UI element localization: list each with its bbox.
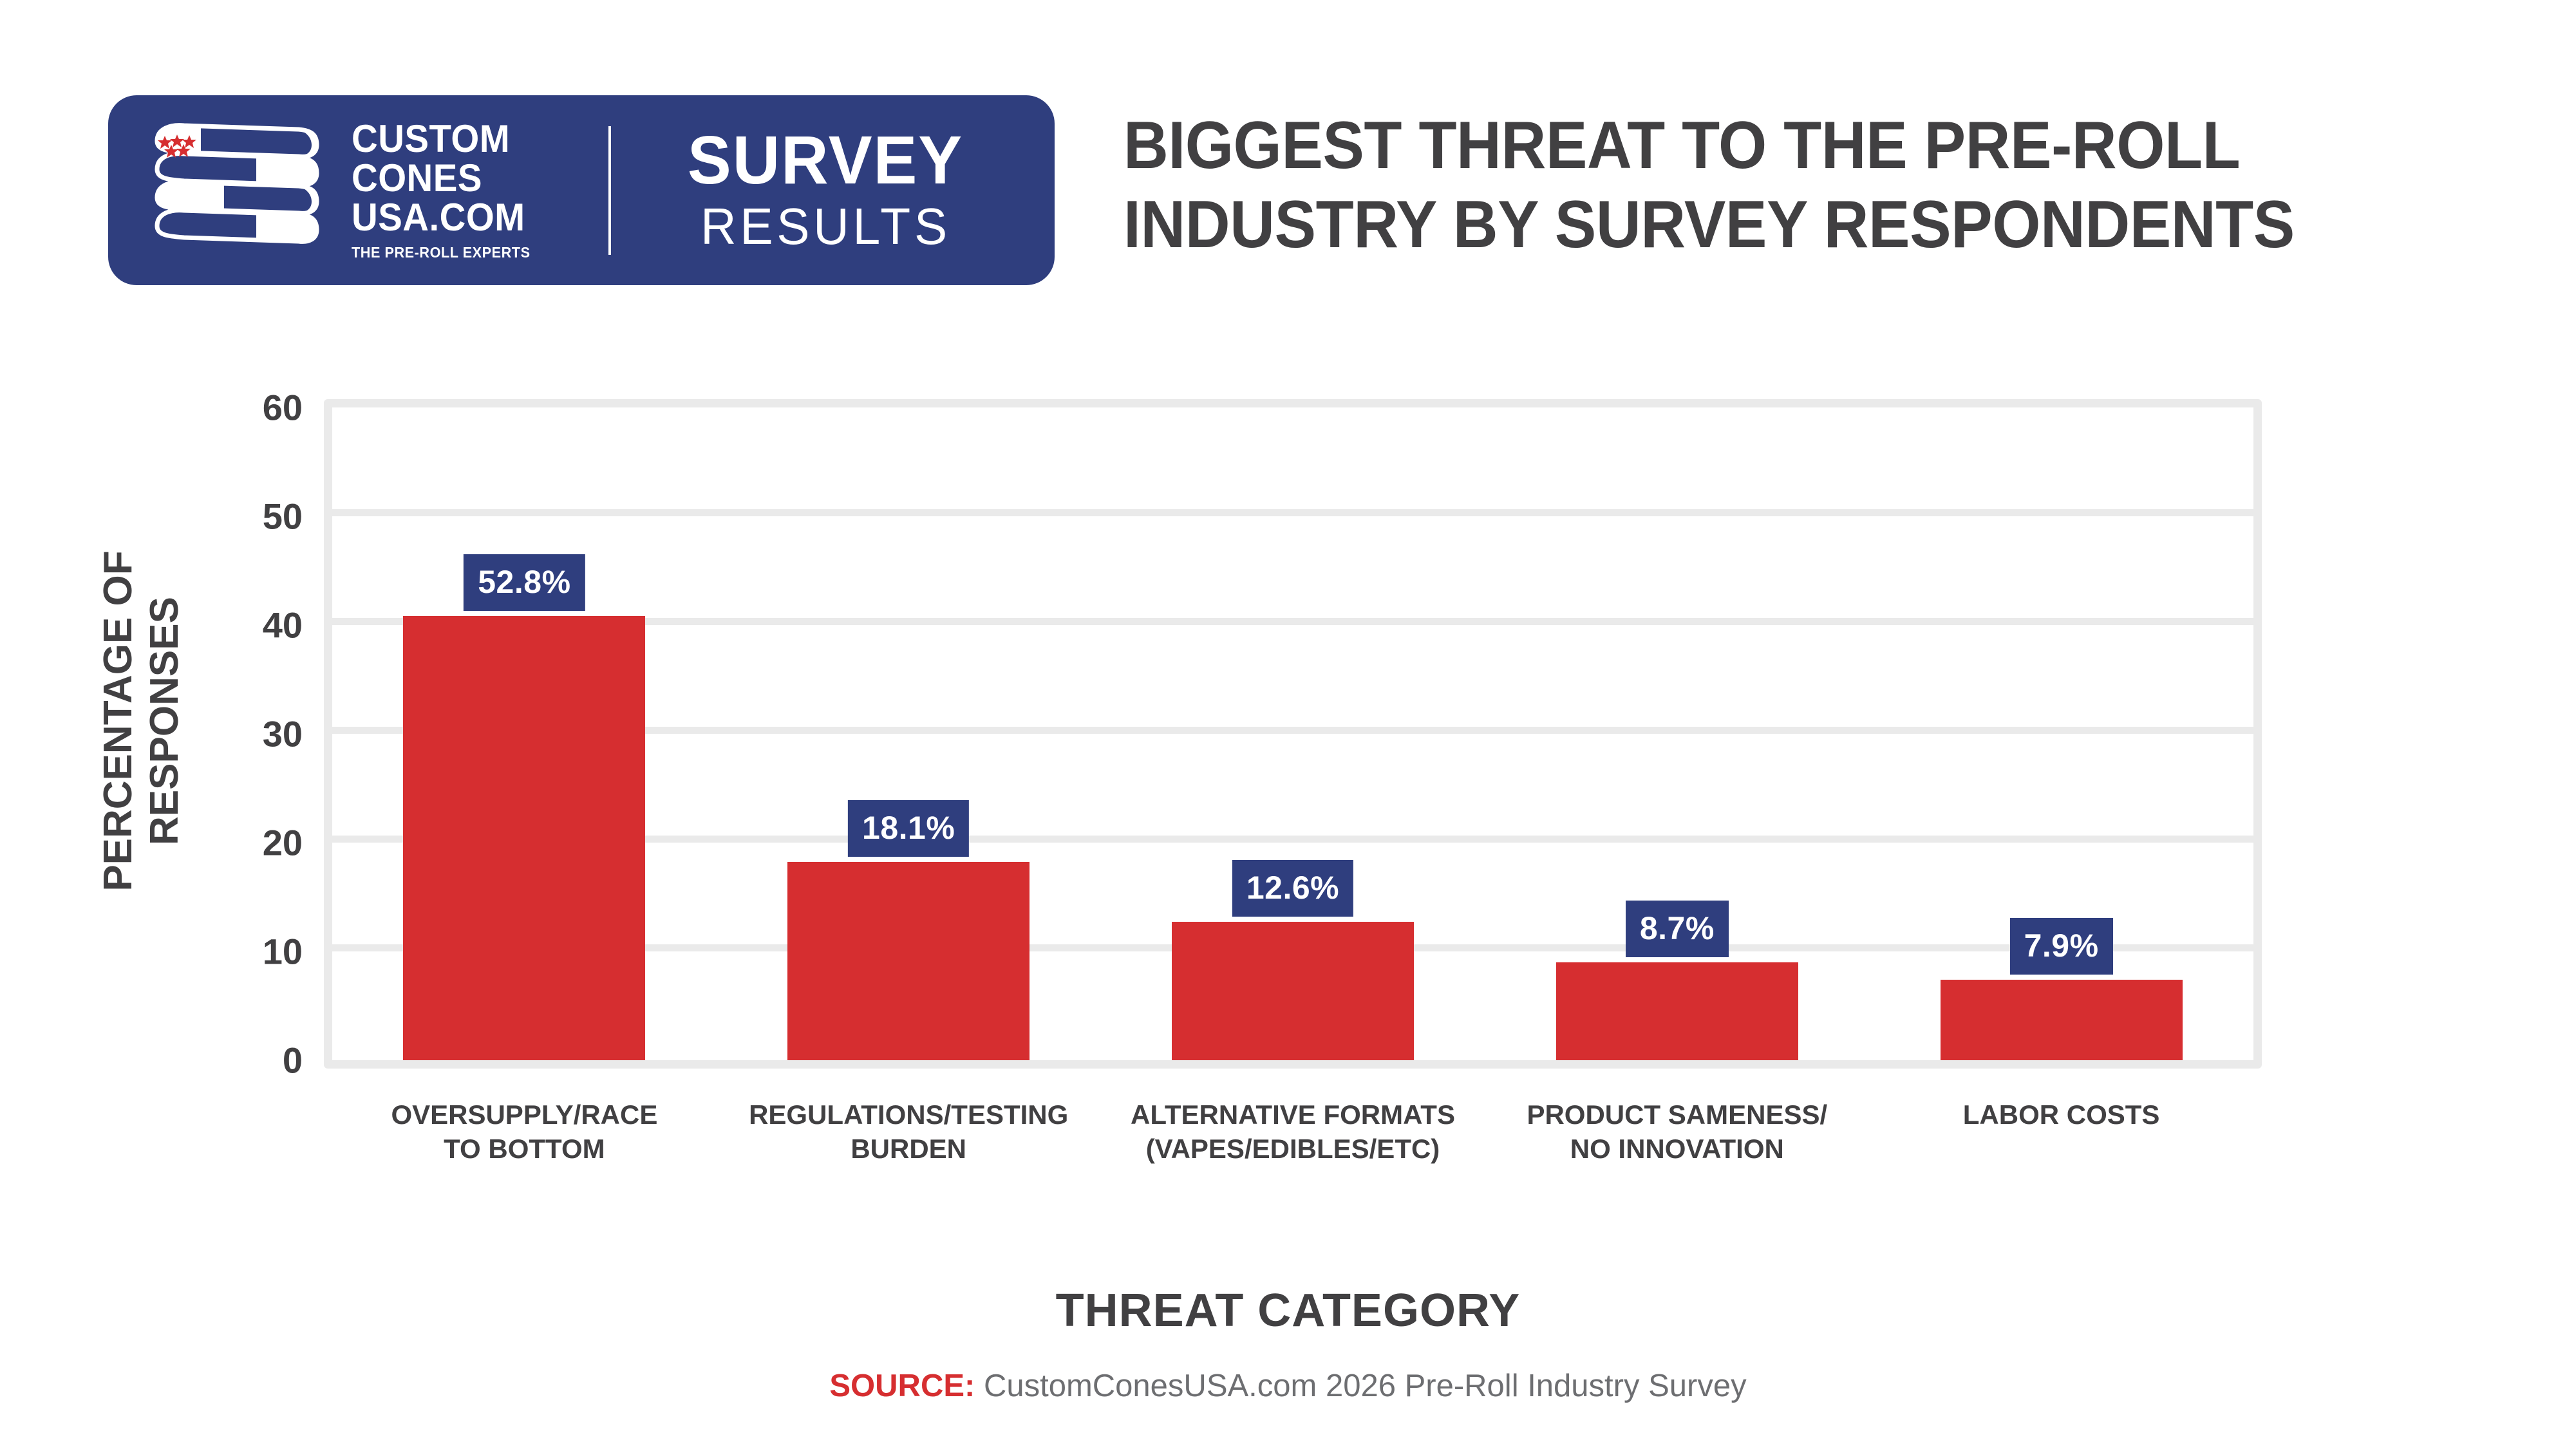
y-axis-tick-label: 10	[109, 931, 303, 973]
bar-value-label: 12.6%	[1232, 860, 1353, 917]
x-axis-tick-line: NO INNOVATION	[1387, 1132, 1967, 1166]
y-axis-tick-label: 0	[109, 1040, 303, 1081]
plot-area	[324, 399, 2262, 1069]
bar[interactable]	[1172, 922, 1414, 1060]
source-note: SOURCE: CustomConesUSA.com 2026 Pre-Roll…	[0, 1368, 2576, 1404]
bar[interactable]	[1556, 962, 1798, 1060]
y-axis-tick-label: 60	[109, 387, 303, 429]
bar[interactable]	[1941, 980, 2183, 1060]
y-axis-tick-label: 40	[109, 604, 303, 646]
bar-value-label: 8.7%	[1626, 901, 1729, 957]
bar[interactable]	[787, 862, 1029, 1060]
bar-value-label: 52.8%	[464, 554, 585, 611]
source-text: CustomConesUSA.com 2026 Pre-Roll Industr…	[984, 1369, 1747, 1403]
bar-value-label: 7.9%	[2010, 918, 2113, 975]
bars-layer	[332, 407, 2253, 1060]
x-axis-title: THREAT CATEGORY	[0, 1284, 2576, 1337]
source-label: SOURCE:	[829, 1369, 975, 1403]
bar-chart: PERCENTAGE OF RESPONSES 0102030405060 52…	[0, 0, 2576, 1449]
x-axis-tick-label: LABOR COSTS	[1772, 1098, 2351, 1132]
y-axis-tick-label: 20	[109, 822, 303, 864]
y-axis-tick-label: 30	[109, 713, 303, 755]
x-axis-tick-line: LABOR COSTS	[1772, 1098, 2351, 1132]
bar[interactable]	[403, 616, 645, 1060]
bar-value-label: 18.1%	[848, 800, 969, 857]
y-axis-tick-label: 50	[109, 496, 303, 538]
